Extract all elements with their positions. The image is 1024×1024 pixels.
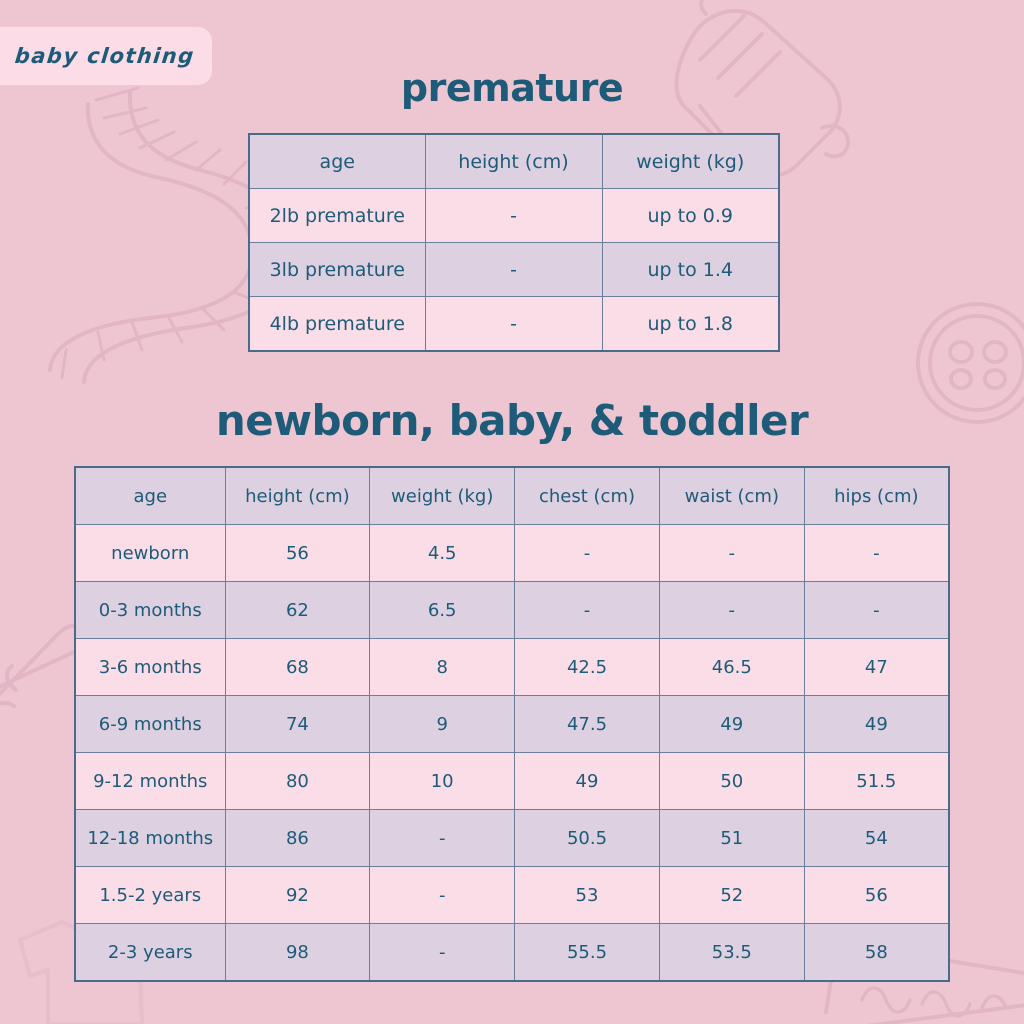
cell-waist: 52 [659, 867, 804, 924]
table-row: 0-3 months 62 6.5 - - - [75, 582, 949, 639]
table-row: 2lb premature - up to 0.9 [249, 189, 779, 243]
column-header-weight: weight (kg) [602, 134, 779, 189]
table-row: 3lb premature - up to 1.4 [249, 243, 779, 297]
cell-hips: 49 [804, 696, 949, 753]
cell-waist: 51 [659, 810, 804, 867]
column-header-waist: waist (cm) [659, 467, 804, 525]
table-row: 4lb premature - up to 1.8 [249, 297, 779, 352]
column-header-age: age [75, 467, 225, 525]
column-header-hips: hips (cm) [804, 467, 949, 525]
table-row: 9-12 months 80 10 49 50 51.5 [75, 753, 949, 810]
newborn-size-table: age height (cm) weight (kg) chest (cm) w… [74, 466, 950, 982]
cell-weight: up to 1.4 [602, 243, 779, 297]
newborn-section-title: newborn, baby, & toddler [0, 396, 1024, 445]
cell-age: 12-18 months [75, 810, 225, 867]
cell-chest: 47.5 [515, 696, 660, 753]
cell-weight: - [370, 867, 515, 924]
cell-age: newborn [75, 525, 225, 582]
cell-chest: 49 [515, 753, 660, 810]
cell-hips: 56 [804, 867, 949, 924]
cell-hips: - [804, 525, 949, 582]
cell-age: 3-6 months [75, 639, 225, 696]
cell-age: 3lb premature [249, 243, 425, 297]
cell-weight: 10 [370, 753, 515, 810]
cell-height: 56 [225, 525, 370, 582]
cell-height: 86 [225, 810, 370, 867]
cell-waist: 50 [659, 753, 804, 810]
cell-chest: 50.5 [515, 810, 660, 867]
cell-hips: 47 [804, 639, 949, 696]
column-header-chest: chest (cm) [515, 467, 660, 525]
cell-weight: up to 0.9 [602, 189, 779, 243]
cell-waist: 53.5 [659, 924, 804, 982]
cell-hips: 54 [804, 810, 949, 867]
safety-pin-doodle [0, 626, 85, 716]
cell-age: 4lb premature [249, 297, 425, 352]
cell-chest: - [515, 525, 660, 582]
cell-age: 0-3 months [75, 582, 225, 639]
cell-hips: 58 [804, 924, 949, 982]
cell-height: 62 [225, 582, 370, 639]
table-row: 1.5-2 years 92 - 53 52 56 [75, 867, 949, 924]
column-header-age: age [249, 134, 425, 189]
cell-waist: 46.5 [659, 639, 804, 696]
table-row: 12-18 months 86 - 50.5 51 54 [75, 810, 949, 867]
table-row: newborn 56 4.5 - - - [75, 525, 949, 582]
cell-height: - [425, 189, 602, 243]
cell-height: - [425, 297, 602, 352]
table-row: 2-3 years 98 - 55.5 53.5 58 [75, 924, 949, 982]
cell-waist: 49 [659, 696, 804, 753]
cell-weight: 8 [370, 639, 515, 696]
column-header-height: height (cm) [225, 467, 370, 525]
cell-age: 6-9 months [75, 696, 225, 753]
cell-waist: - [659, 525, 804, 582]
cell-chest: 42.5 [515, 639, 660, 696]
column-header-height: height (cm) [425, 134, 602, 189]
cell-hips: - [804, 582, 949, 639]
cell-age: 2lb premature [249, 189, 425, 243]
cell-chest: - [515, 582, 660, 639]
cell-weight: 9 [370, 696, 515, 753]
cell-weight: 4.5 [370, 525, 515, 582]
cell-waist: - [659, 582, 804, 639]
cell-age: 2-3 years [75, 924, 225, 982]
cell-hips: 51.5 [804, 753, 949, 810]
cell-height: 68 [225, 639, 370, 696]
cell-height: 92 [225, 867, 370, 924]
cell-weight: - [370, 810, 515, 867]
cell-chest: 53 [515, 867, 660, 924]
premature-size-table: age height (cm) weight (kg) 2lb prematur… [248, 133, 780, 352]
column-header-weight: weight (kg) [370, 467, 515, 525]
cell-weight: up to 1.8 [602, 297, 779, 352]
table-row: 6-9 months 74 9 47.5 49 49 [75, 696, 949, 753]
cell-age: 1.5-2 years [75, 867, 225, 924]
cell-chest: 55.5 [515, 924, 660, 982]
cell-age: 9-12 months [75, 753, 225, 810]
cell-height: 98 [225, 924, 370, 982]
table-header-row: age height (cm) weight (kg) [249, 134, 779, 189]
cell-height: - [425, 243, 602, 297]
brand-badge-label: baby clothing [14, 44, 196, 68]
table-header-row: age height (cm) weight (kg) chest (cm) w… [75, 467, 949, 525]
cell-height: 74 [225, 696, 370, 753]
cell-weight: 6.5 [370, 582, 515, 639]
cell-height: 80 [225, 753, 370, 810]
table-row: 3-6 months 68 8 42.5 46.5 47 [75, 639, 949, 696]
cell-weight: - [370, 924, 515, 982]
brand-badge: baby clothing [0, 27, 212, 85]
